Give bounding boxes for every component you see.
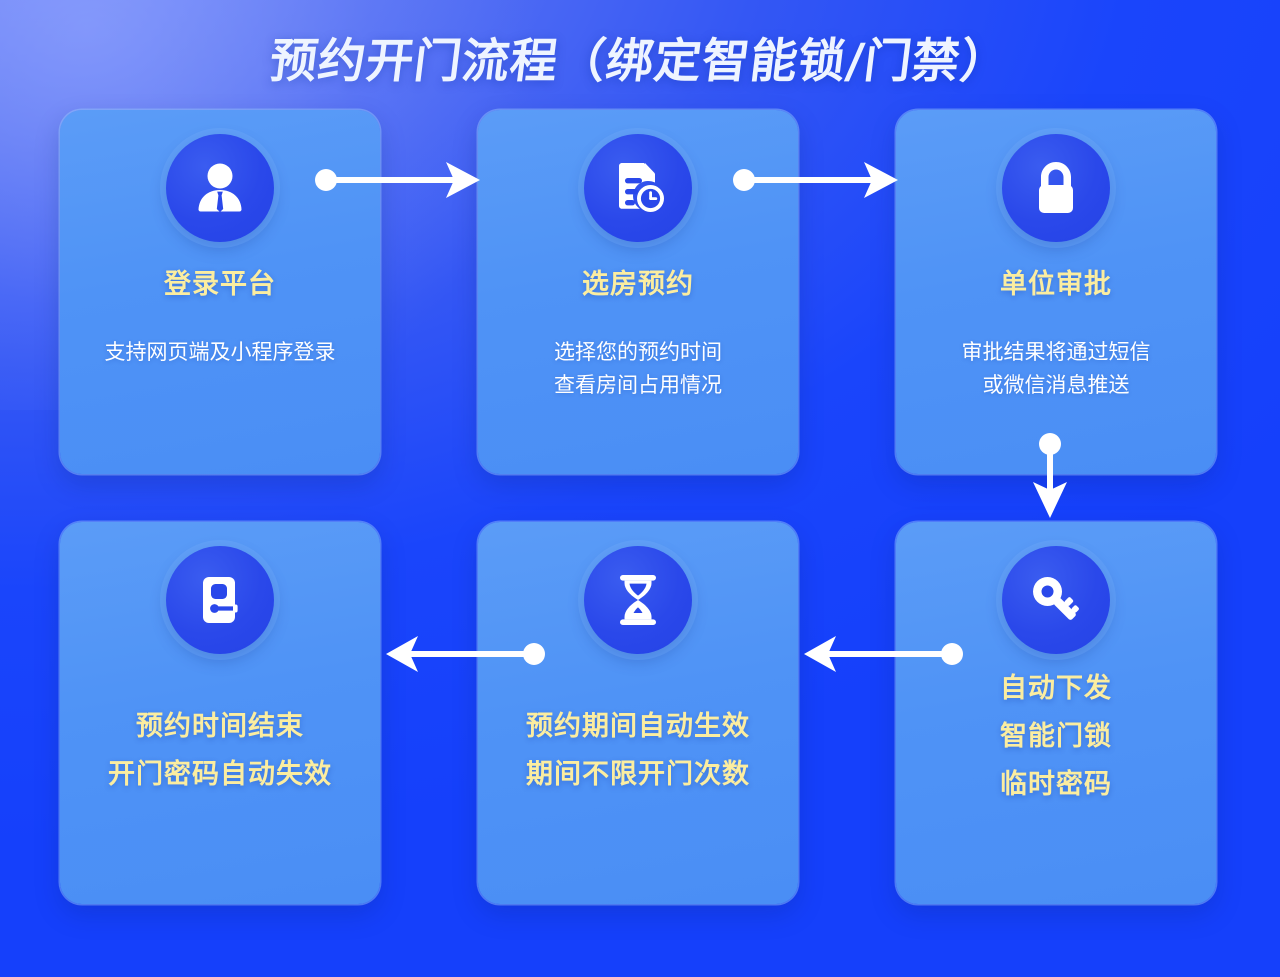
step-body-line: 选择您的预约时间: [478, 336, 798, 369]
step-body-line: 查看房间占用情况: [478, 369, 798, 402]
step-lines: 预约期间自动生效 期间不限开门次数: [478, 702, 798, 798]
step-line: 期间不限开门次数: [478, 750, 798, 798]
step-line: 预约时间结束: [60, 702, 380, 750]
step-line: 自动下发: [896, 664, 1216, 712]
step-body-line: 支持网页端及小程序登录: [60, 336, 380, 369]
key-icon: [1002, 546, 1110, 654]
step-body-line: 或微信消息推送: [896, 369, 1216, 402]
step-title: 选房预约: [478, 262, 798, 301]
step-line: 开门密码自动失效: [60, 750, 380, 798]
step-body: 支持网页端及小程序登录: [60, 336, 380, 369]
step-title: 登录平台: [60, 262, 380, 301]
step-line: 智能门锁: [896, 712, 1216, 760]
lock-icon: [1002, 134, 1110, 242]
step-card-login[interactable]: 登录平台 支持网页端及小程序登录: [60, 110, 380, 474]
door-lock-icon: [166, 546, 274, 654]
step-title: 单位审批: [896, 262, 1216, 301]
step-card-issue-password[interactable]: 自动下发 智能门锁 临时密码: [896, 522, 1216, 904]
step-card-book-room[interactable]: 选房预约 选择您的预约时间 查看房间占用情况: [478, 110, 798, 474]
step-body-line: 审批结果将通过短信: [896, 336, 1216, 369]
user-icon: [166, 134, 274, 242]
step-body: 审批结果将通过短信 或微信消息推送: [896, 336, 1216, 402]
flow-poster: 预约开门流程（绑定智能锁/门禁） 登录平台 支持网页端及小程序登录: [0, 0, 1280, 977]
step-card-approval[interactable]: 单位审批 审批结果将通过短信 或微信消息推送: [896, 110, 1216, 474]
step-line: 临时密码: [896, 760, 1216, 808]
document-clock-icon: [584, 134, 692, 242]
page-title: 预约开门流程（绑定智能锁/门禁）: [0, 22, 1280, 91]
step-lines: 自动下发 智能门锁 临时密码: [896, 664, 1216, 808]
hourglass-icon: [584, 546, 692, 654]
step-card-auto-expire[interactable]: 预约时间结束 开门密码自动失效: [60, 522, 380, 904]
step-lines: 预约时间结束 开门密码自动失效: [60, 702, 380, 798]
step-line: 预约期间自动生效: [478, 702, 798, 750]
step-card-auto-effective[interactable]: 预约期间自动生效 期间不限开门次数: [478, 522, 798, 904]
step-body: 选择您的预约时间 查看房间占用情况: [478, 336, 798, 402]
